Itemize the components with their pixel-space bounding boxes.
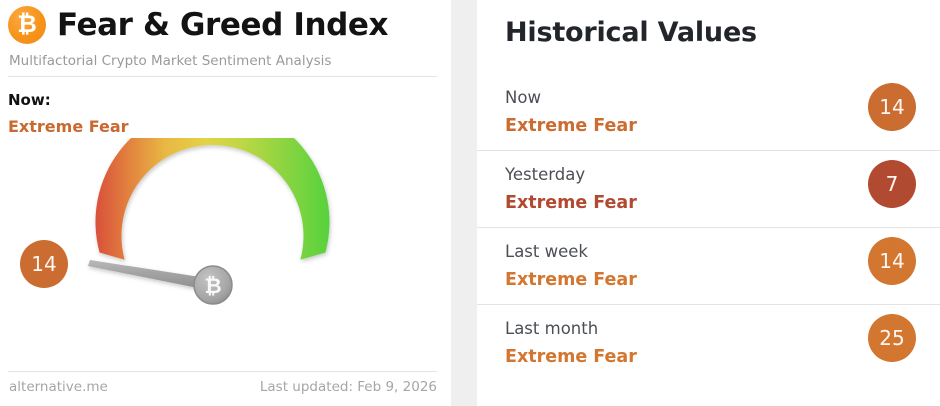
fear-greed-widget: ₿ Fear & Greed Index Multifactorial Cryp…	[0, 0, 940, 406]
history-value-badge: 25	[868, 314, 916, 362]
page-subtitle: Multifactorial Crypto Market Sentiment A…	[9, 53, 331, 69]
bitcoin-icon: ₿	[8, 6, 46, 44]
gauge-value-badge: 14	[20, 240, 68, 288]
history-period: Last month	[505, 319, 598, 338]
list-item[interactable]: Yesterday Extreme Fear 7	[477, 151, 940, 228]
gauge-svg: ₿	[0, 138, 451, 366]
history-classification: Extreme Fear	[505, 116, 637, 136]
history-value-text: 25	[879, 326, 904, 350]
now-classification: Extreme Fear	[8, 117, 129, 136]
historical-title: Historical Values	[505, 17, 757, 48]
history-value-badge: 7	[868, 160, 916, 208]
page-title: Fear & Greed Index	[57, 7, 388, 43]
history-value-text: 14	[879, 95, 904, 119]
history-value-badge: 14	[868, 83, 916, 131]
list-item[interactable]: Last week Extreme Fear 14	[477, 228, 940, 305]
gauge-arc	[95, 138, 329, 260]
historical-panel: Historical Values Now Extreme Fear 14 Ye…	[477, 0, 940, 406]
svg-text:₿: ₿	[204, 274, 221, 298]
list-item[interactable]: Now Extreme Fear 14	[477, 74, 940, 151]
history-value-badge: 14	[868, 237, 916, 285]
bitcoin-glyph: ₿	[17, 12, 37, 36]
header-divider	[8, 76, 437, 77]
footer-divider	[8, 371, 437, 372]
history-classification: Extreme Fear	[505, 193, 637, 213]
gauge-value-text: 14	[31, 252, 56, 276]
list-item[interactable]: Last month Extreme Fear 25	[477, 305, 940, 382]
history-classification: Extreme Fear	[505, 347, 637, 367]
history-period: Last week	[505, 242, 588, 261]
gauge-panel: ₿ Fear & Greed Index Multifactorial Cryp…	[0, 0, 451, 406]
last-updated-label: Last updated: Feb 9, 2026	[260, 379, 437, 395]
history-period: Yesterday	[505, 165, 585, 184]
history-period: Now	[505, 88, 541, 107]
historical-list: Now Extreme Fear 14 Yesterday Extreme Fe…	[477, 74, 940, 382]
history-classification: Extreme Fear	[505, 270, 637, 290]
history-value-text: 7	[886, 172, 899, 196]
now-label: Now:	[8, 91, 51, 109]
bitcoin-needle-hub-icon: ₿	[194, 266, 232, 304]
source-label: alternative.me	[9, 379, 108, 395]
history-value-text: 14	[879, 249, 904, 273]
brand: ₿ Fear & Greed Index	[8, 6, 388, 44]
gauge-chart: ₿	[0, 138, 451, 366]
